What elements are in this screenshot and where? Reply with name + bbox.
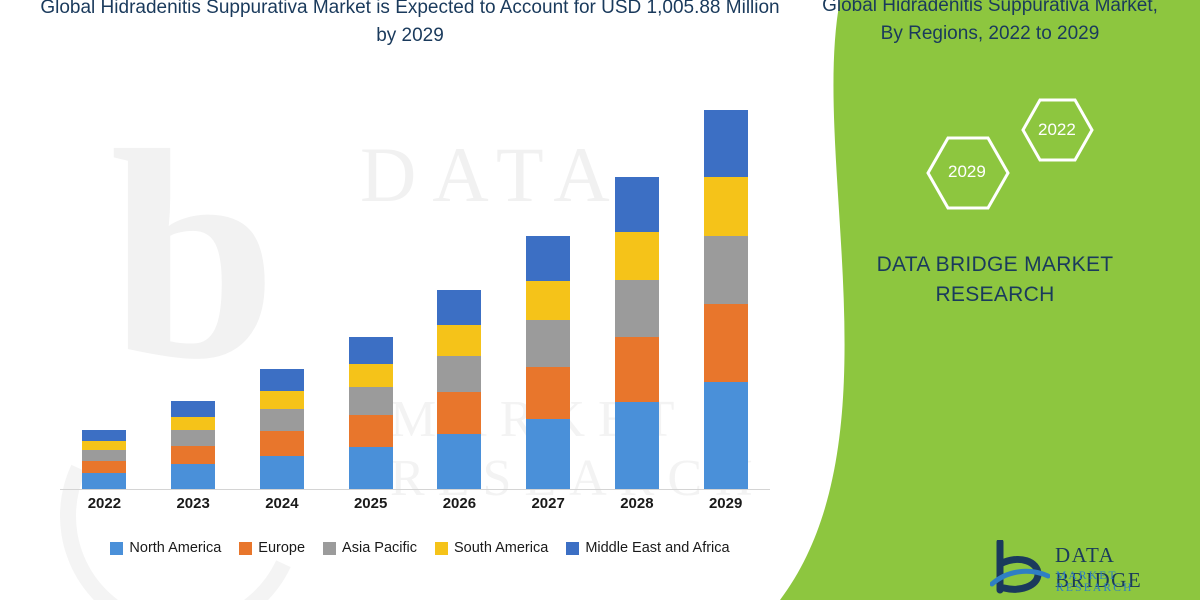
bar-segment bbox=[615, 232, 659, 280]
legend-label: South America bbox=[454, 540, 548, 556]
chart-title: Global Hidradenitis Suppurativa Market i… bbox=[40, 0, 780, 50]
bar-segment bbox=[171, 464, 215, 490]
bar-segment bbox=[704, 177, 748, 236]
x-axis-label: 2024 bbox=[238, 495, 326, 512]
x-axis-label: 2028 bbox=[593, 495, 681, 512]
legend-swatch-icon bbox=[435, 542, 448, 555]
bar-segment bbox=[437, 325, 481, 356]
x-axis-label: 2026 bbox=[415, 495, 503, 512]
bar-column bbox=[238, 90, 326, 490]
bar-segment bbox=[704, 110, 748, 177]
hex-label-2022: 2022 bbox=[1038, 120, 1076, 140]
bar-segment bbox=[437, 434, 481, 490]
bar-segment bbox=[171, 446, 215, 464]
bar-segment bbox=[171, 430, 215, 446]
bar-segment bbox=[615, 177, 659, 232]
bar-segment bbox=[704, 304, 748, 382]
chart-panel: Global Hidradenitis Suppurativa Market i… bbox=[0, 0, 840, 600]
stacked-bar bbox=[704, 110, 748, 490]
bar-segment bbox=[260, 391, 304, 409]
bar-segment bbox=[82, 430, 126, 441]
x-axis-label: 2025 bbox=[327, 495, 415, 512]
bar-segment bbox=[171, 417, 215, 430]
bar-segment bbox=[526, 367, 570, 420]
x-axis-label: 2022 bbox=[60, 495, 148, 512]
legend-item[interactable]: Asia Pacific bbox=[323, 540, 417, 556]
right-panel-title: Global Hidradenitis Suppurativa Market, … bbox=[815, 0, 1165, 48]
hexagon-icon bbox=[890, 90, 1190, 220]
bar-segment bbox=[349, 415, 393, 447]
bar-column bbox=[504, 90, 592, 490]
legend-item[interactable]: Middle East and Africa bbox=[566, 540, 729, 556]
right-brand-panel: Global Hidradenitis Suppurativa Market, … bbox=[780, 0, 1200, 600]
stacked-bar bbox=[260, 369, 304, 490]
chart-plot-area bbox=[60, 90, 770, 490]
logo-mark-icon bbox=[990, 540, 1050, 596]
data-bridge-logo: DATA BRIDGE MARKET RESEARCH bbox=[990, 540, 1200, 600]
bar-segment bbox=[615, 402, 659, 490]
bar-segment bbox=[349, 387, 393, 415]
x-axis-label: 2027 bbox=[504, 495, 592, 512]
bar-segment bbox=[82, 473, 126, 490]
brand-name: DATA BRIDGE MARKET RESEARCH bbox=[830, 250, 1160, 310]
bar-segment bbox=[260, 431, 304, 455]
bar-column bbox=[327, 90, 415, 490]
x-axis-label: 2023 bbox=[149, 495, 237, 512]
bar-segment bbox=[615, 280, 659, 337]
bar-segment bbox=[349, 447, 393, 490]
logo-subtitle: MARKET RESEARCH bbox=[1056, 570, 1200, 594]
legend-swatch-icon bbox=[323, 542, 336, 555]
bar-segment bbox=[704, 236, 748, 304]
stacked-bar bbox=[82, 430, 126, 490]
bar-column bbox=[60, 90, 148, 490]
bar-segment bbox=[526, 419, 570, 490]
legend-swatch-icon bbox=[566, 542, 579, 555]
legend-label: North America bbox=[129, 540, 221, 556]
bar-segment bbox=[171, 401, 215, 417]
legend-item[interactable]: North America bbox=[110, 540, 221, 556]
chart-legend: North AmericaEuropeAsia PacificSouth Ame… bbox=[40, 540, 800, 556]
legend-swatch-icon bbox=[110, 542, 123, 555]
bar-segment bbox=[260, 409, 304, 431]
stacked-bar bbox=[437, 290, 481, 490]
bar-segment bbox=[82, 441, 126, 450]
stacked-bar bbox=[615, 177, 659, 490]
brand-line-2: RESEARCH bbox=[935, 283, 1054, 306]
bar-segment bbox=[437, 290, 481, 325]
hex-label-2029: 2029 bbox=[948, 162, 986, 182]
brand-line-1: DATA BRIDGE MARKET bbox=[877, 253, 1114, 276]
bar-segment bbox=[260, 369, 304, 391]
legend-item[interactable]: South America bbox=[435, 540, 548, 556]
bar-column bbox=[682, 90, 770, 490]
bar-segment bbox=[82, 450, 126, 461]
legend-label: Middle East and Africa bbox=[585, 540, 729, 556]
bar-column bbox=[593, 90, 681, 490]
bar-segment bbox=[704, 382, 748, 490]
bar-segment bbox=[526, 236, 570, 281]
x-axis-line bbox=[60, 489, 770, 490]
legend-item[interactable]: Europe bbox=[239, 540, 305, 556]
stacked-bar bbox=[171, 401, 215, 490]
legend-label: Europe bbox=[258, 540, 305, 556]
x-axis-labels: 20222023202420252026202720282029 bbox=[60, 495, 770, 512]
legend-swatch-icon bbox=[239, 542, 252, 555]
stacked-bar bbox=[526, 236, 570, 490]
bar-segment bbox=[437, 356, 481, 393]
bar-group bbox=[60, 90, 770, 490]
stacked-bar bbox=[349, 337, 393, 490]
bar-segment bbox=[437, 392, 481, 434]
bar-segment bbox=[526, 281, 570, 320]
hexagon-badges: 2022 2029 bbox=[890, 90, 1190, 220]
x-axis-label: 2029 bbox=[682, 495, 770, 512]
bar-segment bbox=[82, 461, 126, 473]
bar-segment bbox=[349, 337, 393, 364]
bar-column bbox=[415, 90, 503, 490]
bar-segment bbox=[349, 364, 393, 387]
legend-label: Asia Pacific bbox=[342, 540, 417, 556]
bar-segment bbox=[260, 456, 304, 490]
bar-segment bbox=[615, 337, 659, 402]
bar-segment bbox=[526, 320, 570, 366]
bar-column bbox=[149, 90, 237, 490]
